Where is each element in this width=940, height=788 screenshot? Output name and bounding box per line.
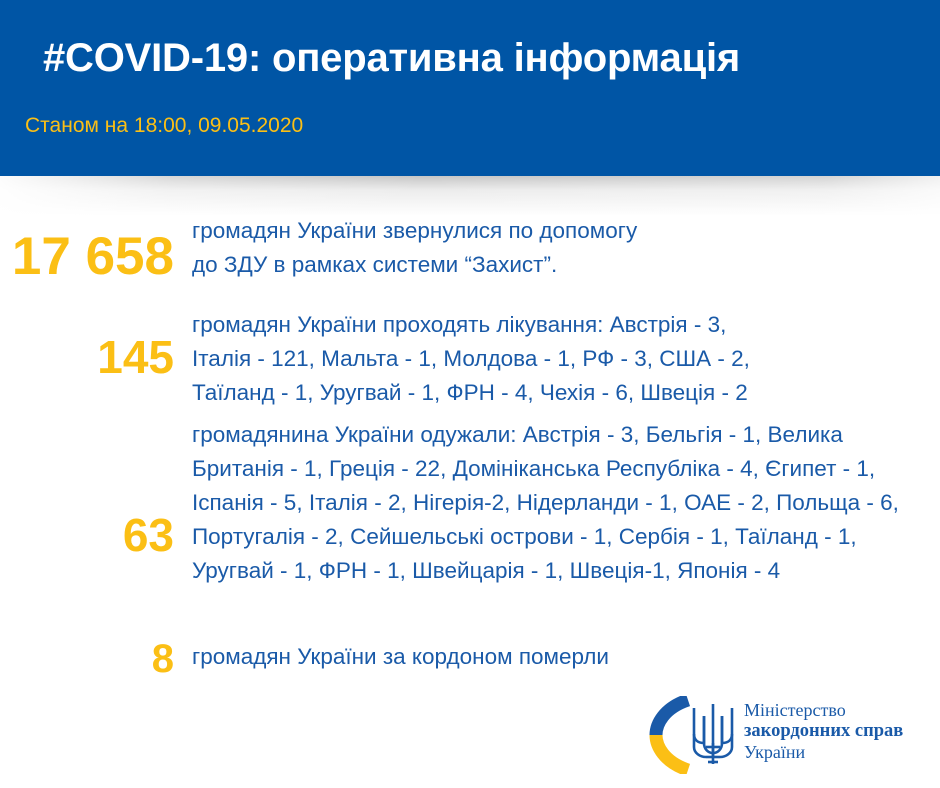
header-banner: #COVID-19: оперативна інформація Станом … xyxy=(0,0,940,176)
logo-line-ukraine: України xyxy=(744,742,903,763)
logo-line-ministry: Міністерство xyxy=(744,700,903,721)
stat-line: Таїланд - 1, Уругвай - 1, ФРН - 4, Чехія… xyxy=(192,376,934,410)
mfa-logo: Міністерство закордонних справ України xyxy=(648,694,938,778)
stat-description: громадянина України одужали: Австрія - 3… xyxy=(192,418,934,588)
stat-line: громадян України за кордоном померли xyxy=(192,644,609,669)
page-title: #COVID-19: оперативна інформація xyxy=(43,36,740,81)
header-shadow-fade xyxy=(0,176,940,216)
logo-line-foreign-affairs: закордонних справ xyxy=(744,721,903,742)
stat-line: громадян України звернулися по допомогу xyxy=(192,214,934,248)
stat-line: Італія - 121, Мальта - 1, Молдова - 1, Р… xyxy=(192,342,934,376)
stat-line: Сейшельські острови - 1, Сербія - 1, Таї… xyxy=(350,524,857,549)
stat-number: 63 xyxy=(0,512,174,558)
stat-number: 145 xyxy=(0,334,174,380)
stat-description: громадян України за кордоном померли xyxy=(192,640,934,674)
logo-text-block: Міністерство закордонних справ України xyxy=(744,700,903,763)
stat-line: громадянина України одужали: Австрія - 3… xyxy=(192,422,761,447)
stat-description: громадян України звернулися по допомогу … xyxy=(192,214,934,282)
stat-number: 8 xyxy=(0,639,174,679)
stat-line: громадян України проходять лікування: Ав… xyxy=(192,308,934,342)
header-timestamp: Станом на 18:00, 09.05.2020 xyxy=(25,114,303,138)
stat-line: Уругвай - 1, ФРН - 1, Швейцарія - 1, Шве… xyxy=(192,558,780,583)
stat-line: до ЗДУ в рамках системи “Захист”. xyxy=(192,248,934,282)
header-shadow xyxy=(0,176,940,216)
stat-description: громадян України проходять лікування: Ав… xyxy=(192,308,934,410)
stat-number: 17 658 xyxy=(0,230,174,283)
trident-tryzub-icon xyxy=(684,700,742,768)
